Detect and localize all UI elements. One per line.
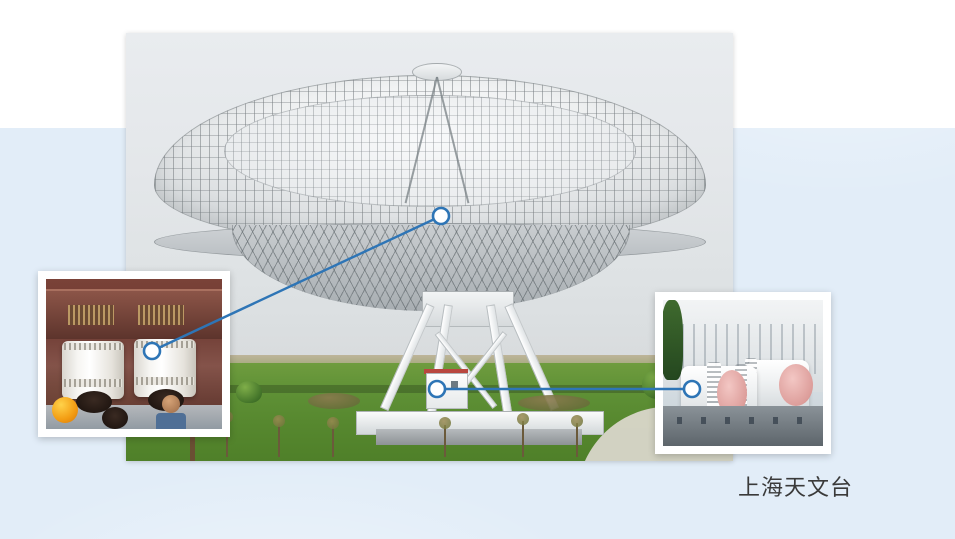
bearing-bolt-ring-left-top [64, 343, 122, 350]
refurbished-bearing-photo [655, 292, 831, 454]
bearing-bolt-ring-right-top [136, 341, 194, 348]
sapling-3-crown [327, 417, 339, 429]
slide-canvas: 上海天文台 [0, 0, 955, 539]
pink-end-cap-far [779, 364, 813, 406]
telescope-dish [154, 75, 704, 275]
worker-head [162, 395, 180, 413]
gear-teeth-left [68, 305, 114, 325]
base-bolt-5 [773, 417, 778, 424]
base-bolt-1 [677, 417, 682, 424]
base-bolt-3 [725, 417, 730, 424]
cabin-window-right [451, 381, 458, 390]
bearing-bolt-ring-right-bottom [136, 377, 194, 385]
worn-bearing-image [46, 279, 222, 429]
base-bolt-6 [797, 417, 802, 424]
sapling-2 [278, 423, 280, 457]
sapling-4 [444, 425, 446, 457]
sapling-2-crown [273, 415, 285, 427]
observatory-caption: 上海天文台 [738, 470, 853, 502]
sapling-6-crown [571, 415, 583, 427]
gear-teeth-right [138, 305, 184, 325]
cabin-window-left [432, 381, 439, 390]
refurbished-bearing-image [663, 300, 823, 446]
concrete-plinth [376, 429, 582, 445]
base-bolt-4 [749, 417, 754, 424]
dark-equipment [102, 407, 128, 429]
base-bolt-2 [701, 417, 706, 424]
shrub-row-b [518, 395, 590, 411]
tree-edge [663, 300, 683, 380]
elevation-bearing-housing [422, 291, 514, 327]
steel-base-rail [663, 406, 823, 446]
worn-bearing-photo [38, 271, 230, 437]
sapling-6 [576, 423, 578, 457]
sapling-5-crown [517, 413, 529, 425]
control-cabin [426, 373, 468, 409]
sapling-5 [522, 421, 524, 457]
tree-mid-left [236, 381, 262, 403]
dish-inner-panel [224, 95, 636, 207]
sapling-3 [332, 425, 334, 457]
bearing-bolt-ring-left-bottom [64, 379, 122, 387]
shrub-row-a [308, 393, 360, 409]
worker-body [156, 413, 186, 429]
orange-sphere [52, 397, 78, 423]
sapling-4-crown [439, 417, 451, 429]
